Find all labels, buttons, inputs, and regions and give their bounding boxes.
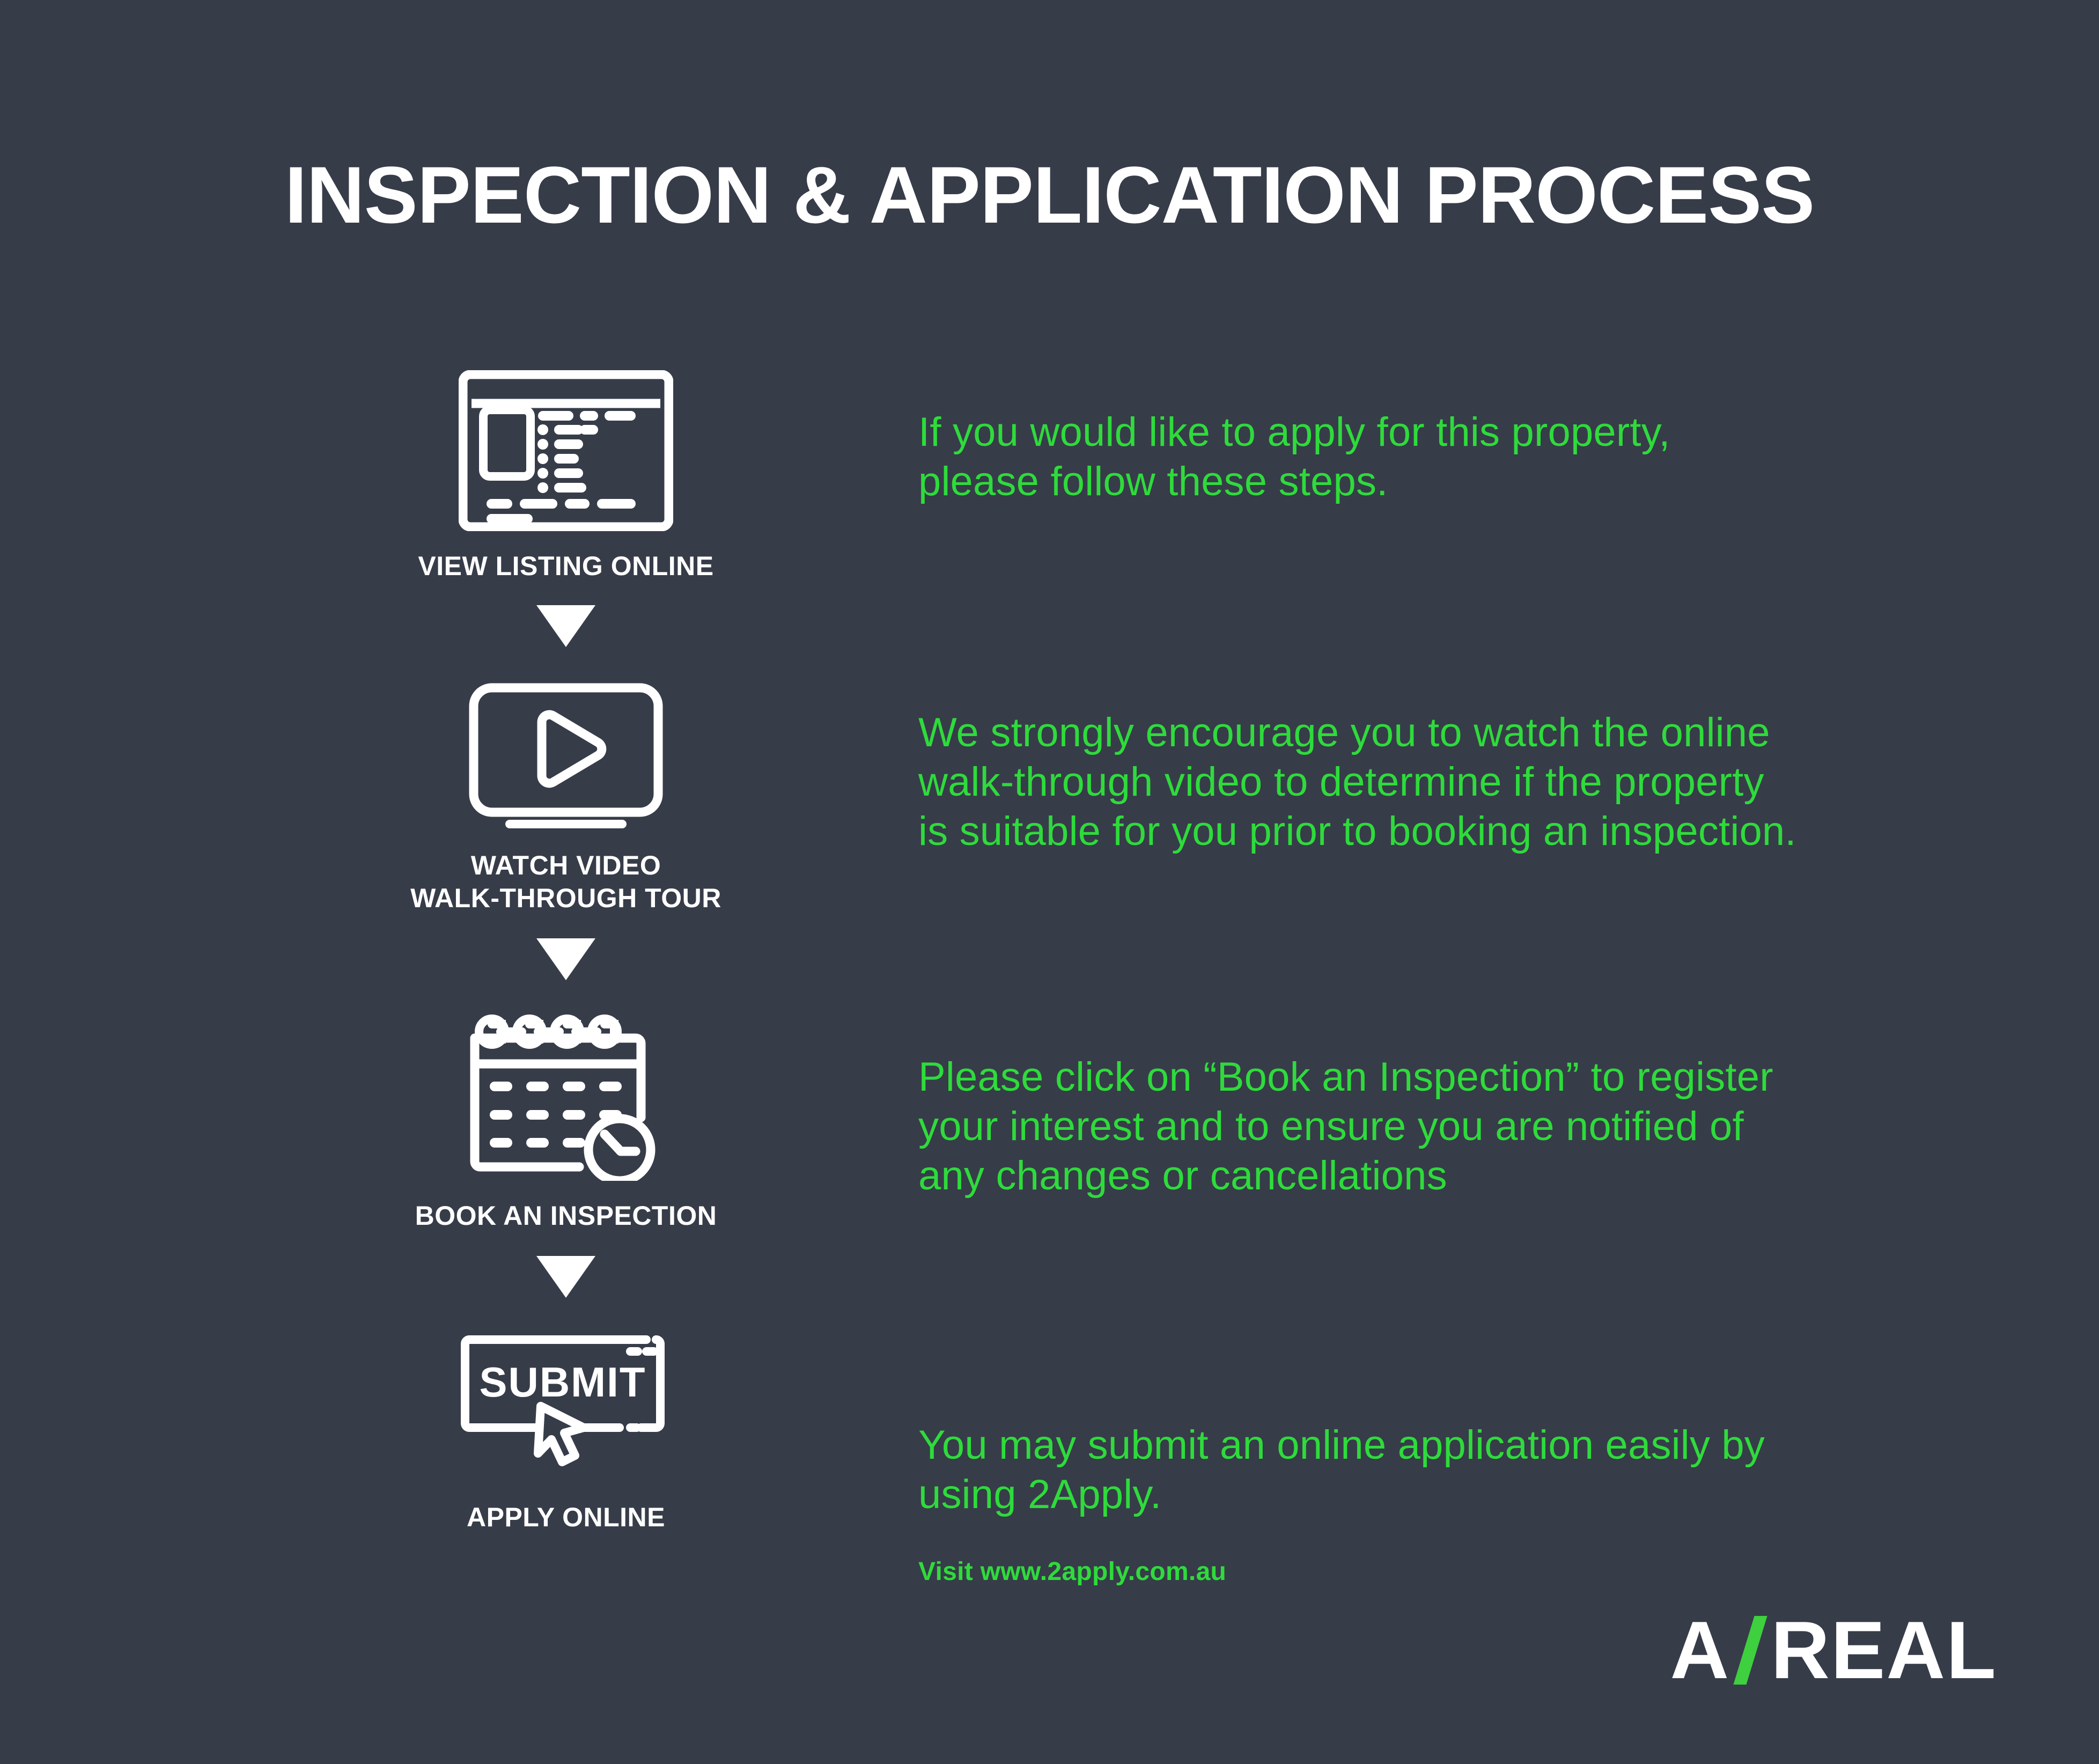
step-view-listing-online: VIEW LISTING ONLINE	[408, 370, 724, 583]
step-label: APPLY ONLINE	[467, 1501, 665, 1534]
video-play-monitor-icon	[459, 670, 673, 833]
calendar-clock-icon	[459, 1004, 673, 1184]
note-view-listing: If you would like to apply for this prop…	[918, 408, 1970, 506]
browser-listing-icon	[459, 370, 673, 534]
note-apply-online: You may submit an online application eas…	[918, 1421, 1970, 1519]
step-label: WATCH VIDEO WALK-THROUGH TOUR	[410, 849, 721, 915]
step-label: BOOK AN INSPECTION	[415, 1200, 717, 1232]
note-watch-video: We strongly encourage you to watch the o…	[918, 708, 1970, 856]
visit-url-text[interactable]: Visit www.2apply.com.au	[918, 1557, 1226, 1586]
step-book-an-inspection: BOOK AN INSPECTION	[408, 1004, 724, 1232]
brand-logo-real: REAL	[1771, 1609, 1997, 1691]
triangle-down-icon	[408, 1256, 724, 1298]
page-title: INSPECTION & APPLICATION PROCESS	[0, 155, 2099, 235]
step-watch-video-walkthrough: WATCH VIDEO WALK-THROUGH TOUR	[408, 670, 724, 915]
triangle-down-icon	[408, 605, 724, 647]
submit-button-cursor-icon: SUBMIT	[453, 1321, 679, 1485]
brand-logo-a: A	[1670, 1609, 1730, 1691]
step-apply-online: SUBMIT APPLY ONLINE	[408, 1321, 724, 1534]
step-label: VIEW LISTING ONLINE	[418, 550, 713, 583]
process-steps-column: VIEW LISTING ONLINE WATCH VIDEO WALK-THR…	[408, 370, 724, 1534]
brand-logo-slash-icon	[1735, 1616, 1765, 1685]
triangle-down-icon	[408, 938, 724, 980]
brand-logo: A REAL	[1670, 1609, 1997, 1691]
note-book-inspection: Please click on “Book an Inspection” to …	[918, 1053, 1970, 1201]
submit-icon-text: SUBMIT	[480, 1358, 646, 1406]
